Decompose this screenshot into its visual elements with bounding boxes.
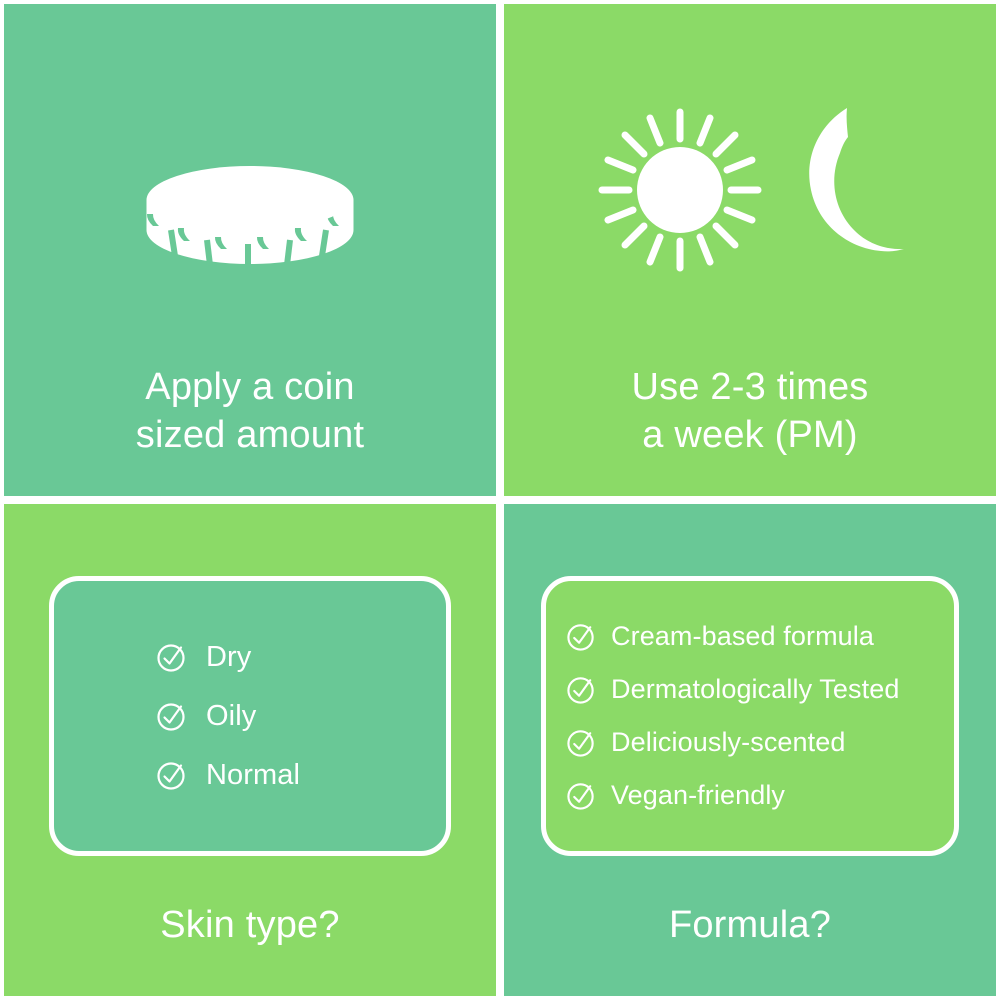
quadrant-grid: Apply a coin sized amount bbox=[0, 0, 1000, 1000]
list-item-label: Dermatologically Tested bbox=[611, 674, 899, 705]
list-item[interactable]: Normal bbox=[156, 759, 446, 792]
formula-list: Cream-based formula Dermatologically Tes… bbox=[566, 621, 954, 811]
check-circle-icon bbox=[156, 700, 188, 732]
coin-icon bbox=[145, 164, 355, 276]
check-circle-icon bbox=[566, 780, 597, 811]
apply-caption: Apply a coin sized amount bbox=[136, 364, 364, 460]
sun-icon bbox=[602, 112, 758, 268]
formula-question: Formula? bbox=[669, 904, 831, 947]
skin-type-question: Skin type? bbox=[160, 904, 339, 947]
panel-apply-amount: Apply a coin sized amount bbox=[4, 4, 496, 496]
check-circle-icon bbox=[156, 641, 188, 673]
list-item-label: Normal bbox=[206, 759, 300, 792]
list-item-label: Dry bbox=[206, 641, 251, 674]
list-item-label: Vegan-friendly bbox=[611, 780, 785, 811]
list-item[interactable]: Oily bbox=[156, 700, 446, 733]
list-item[interactable]: Cream-based formula bbox=[566, 621, 954, 652]
formula-box: Cream-based formula Dermatologically Tes… bbox=[541, 576, 959, 856]
panel-formula: Cream-based formula Dermatologically Tes… bbox=[504, 504, 996, 996]
check-circle-icon bbox=[566, 621, 597, 652]
panel-skin-type: Dry Oily Normal bbox=[4, 504, 496, 996]
check-circle-icon bbox=[156, 759, 188, 791]
list-item[interactable]: Dry bbox=[156, 641, 446, 674]
skin-type-list: Dry Oily Normal bbox=[156, 641, 446, 792]
list-item[interactable]: Vegan-friendly bbox=[566, 780, 954, 811]
list-item[interactable]: Dermatologically Tested bbox=[566, 674, 954, 705]
list-item[interactable]: Deliciously-scented bbox=[566, 727, 954, 758]
list-item-label: Cream-based formula bbox=[611, 621, 874, 652]
check-circle-icon bbox=[566, 727, 597, 758]
list-item-label: Oily bbox=[206, 700, 256, 733]
frequency-caption: Use 2-3 times a week (PM) bbox=[631, 364, 868, 460]
moon-icon bbox=[809, 108, 904, 251]
list-item-label: Deliciously-scented bbox=[611, 727, 846, 758]
panel-frequency: Use 2-3 times a week (PM) bbox=[504, 4, 996, 496]
check-circle-icon bbox=[566, 674, 597, 705]
skin-type-box: Dry Oily Normal bbox=[49, 576, 451, 856]
product-usage-infographic: Apply a coin sized amount bbox=[0, 0, 1000, 1000]
